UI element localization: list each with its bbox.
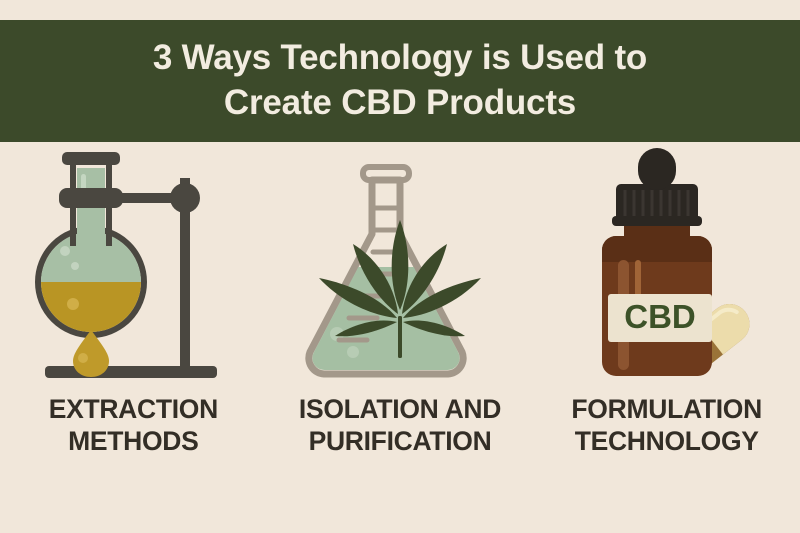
icon-area-isolation [267,142,534,392]
erlenmeyer-flask-with-cannabis-leaf-icon [285,142,515,387]
header-band: 3 Ways Technology is Used to Create CBD … [0,20,800,142]
bubble-icon [60,246,70,256]
caption-isolation: ISOLATION AND PURIFICATION [299,394,501,458]
droplet-highlight [78,353,88,363]
icon-area-extraction [0,142,267,392]
cbd-tincture-bottle-with-capsule-icon: CBD [562,142,772,387]
columns-row: EXTRACTION METHODS [0,142,800,533]
flask-clamp [59,188,123,208]
column-isolation: ISOLATION AND PURIFICATION [267,142,534,533]
beaker-rim [363,167,409,180]
column-formulation: CBD FORMULATION TECHNOLOGY [533,142,800,533]
flask-liquid-fill [38,282,144,338]
bubble-icon [71,262,79,270]
cbd-label-text: CBD [624,298,696,335]
oil-droplet-icon [73,330,109,377]
page-title: 3 Ways Technology is Used to Create CBD … [133,36,667,126]
flask-top-rim [62,152,120,165]
stand-base-bar [45,366,217,378]
column-extraction: EXTRACTION METHODS [0,142,267,533]
bubble-icon [347,346,359,358]
dropper-bulb [638,148,676,190]
infographic-canvas: 3 Ways Technology is Used to Create CBD … [0,0,800,533]
bubble-icon [67,298,79,310]
round-bottom-flask-on-stand-icon [23,142,243,387]
icon-area-formulation: CBD [533,142,800,392]
cap-base-flange [612,216,702,226]
caption-formulation: FORMULATION TECHNOLOGY [571,394,762,458]
caption-extraction: EXTRACTION METHODS [49,394,218,458]
